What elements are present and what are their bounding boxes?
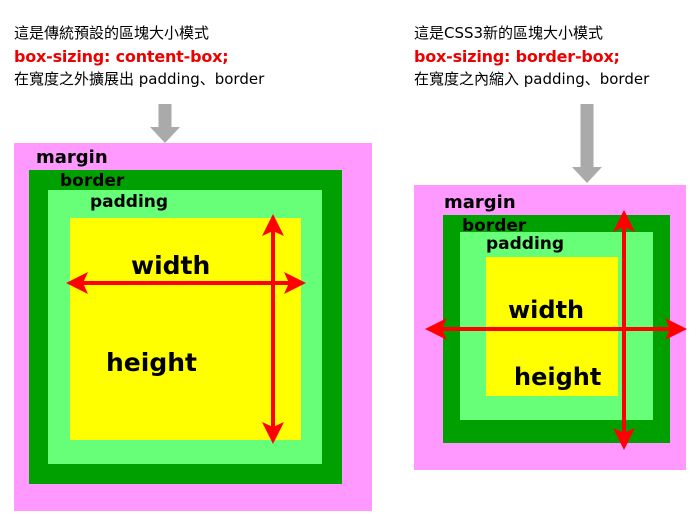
left-width-label: width	[131, 253, 210, 278]
right-height-label: height	[514, 365, 601, 389]
border-box-diagram: margin border padding width height	[414, 185, 686, 470]
right-caption-line3: 在寬度之內縮入 padding、border	[414, 68, 649, 91]
left-padding-label: padding	[90, 193, 168, 211]
right-height-measure-arrow	[608, 210, 640, 450]
right-caption-block: 這是CSS3新的區塊大小模式 box-sizing: border-box; 在…	[414, 22, 649, 91]
left-arrow-shaft	[159, 104, 172, 128]
right-caption-code: box-sizing: border-box;	[414, 45, 649, 68]
left-arrow-head	[150, 127, 180, 143]
left-margin-label: margin	[36, 149, 108, 167]
content-box-diagram: margin border padding width height	[14, 143, 372, 511]
left-border-label: border	[60, 172, 124, 190]
diagram-canvas: 這是傳統預設的區塊大小模式 box-sizing: content-box; 在…	[0, 0, 700, 514]
right-arrow-head	[572, 167, 602, 183]
left-height-measure-arrow	[257, 214, 289, 444]
right-arrow-shaft	[581, 104, 594, 168]
left-grey-down-arrow-icon	[140, 104, 190, 144]
left-caption-line1: 這是傳統預設的區塊大小模式	[14, 22, 264, 45]
right-grey-down-arrow-icon	[562, 104, 612, 184]
right-padding-label: padding	[486, 235, 564, 253]
right-caption-line1: 這是CSS3新的區塊大小模式	[414, 22, 649, 45]
right-border-label: border	[462, 217, 526, 235]
left-caption-line3: 在寬度之外擴展出 padding、border	[14, 68, 264, 91]
right-margin-label: margin	[444, 194, 516, 212]
left-caption-code: box-sizing: content-box;	[14, 45, 264, 68]
left-caption-block: 這是傳統預設的區塊大小模式 box-sizing: content-box; 在…	[14, 22, 264, 91]
right-width-label: width	[508, 298, 584, 322]
left-height-label: height	[106, 350, 197, 375]
